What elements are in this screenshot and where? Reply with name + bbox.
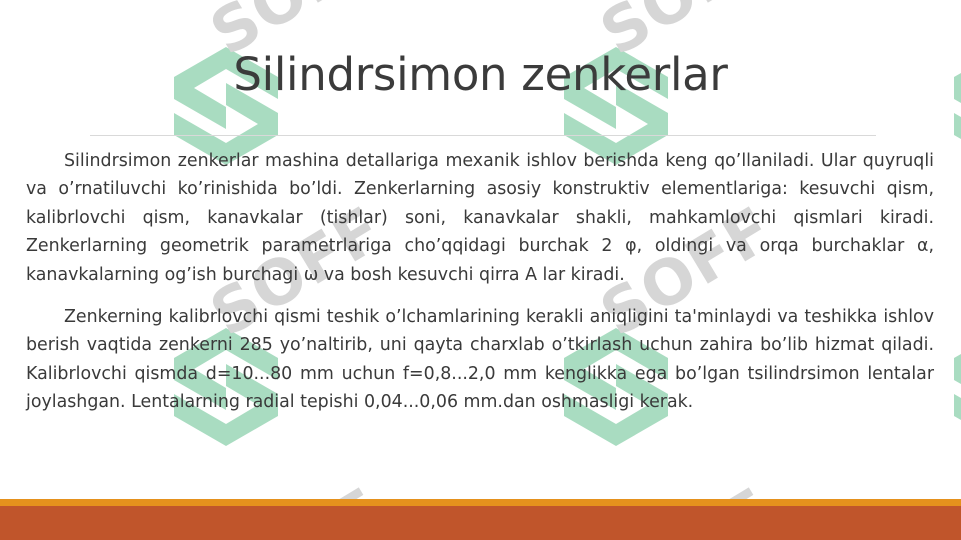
footer-bar xyxy=(0,506,961,540)
page-title: Silindrsimon zenkerlar xyxy=(0,48,961,102)
body-text-block: Silindrsimon zenkerlar mashina detallari… xyxy=(26,147,934,417)
presentation-slide: SOFFSOFFSOFFSOFFSOFFSOFFSOFFSOFFSOFFSOFF… xyxy=(0,0,961,540)
footer-accent-bar xyxy=(0,499,961,506)
slide-content: Silindrsimon zenkerlar Silindrsimon zenk… xyxy=(0,0,961,540)
title-divider xyxy=(90,135,876,136)
paragraph: Silindrsimon zenkerlar mashina detallari… xyxy=(26,147,934,289)
paragraph: Zenkerning kalibrlovchi qismi teshik o’l… xyxy=(26,303,934,417)
